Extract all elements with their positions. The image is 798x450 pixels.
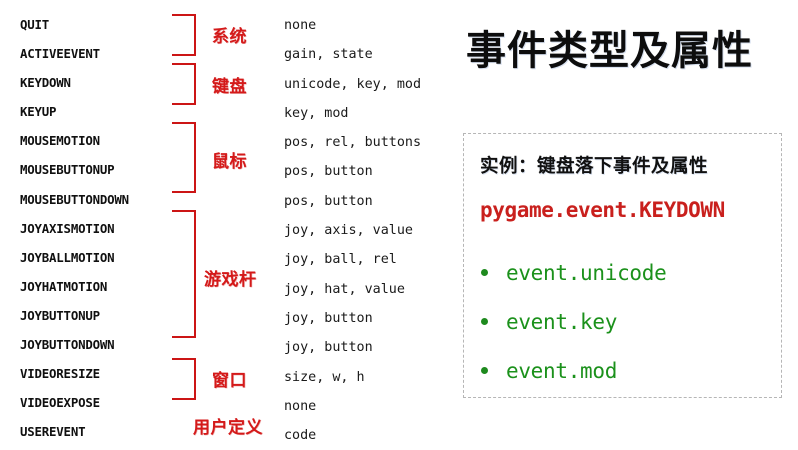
- event-name: QUIT: [20, 10, 190, 39]
- example-code: pygame.event.KEYDOWN: [480, 198, 725, 222]
- event-attributes: unicode, key, mod: [284, 70, 474, 99]
- event-name: VIDEORESIZE: [20, 359, 190, 388]
- event-name: MOUSEBUTTONDOWN: [20, 185, 190, 214]
- event-name: MOUSEBUTTONUP: [20, 155, 190, 184]
- bullet-icon: [481, 318, 488, 325]
- event-name: USEREVENT: [20, 417, 190, 446]
- event-name: JOYBUTTONUP: [20, 301, 190, 330]
- bullet-icon: [481, 269, 488, 276]
- list-item: event.key: [481, 297, 771, 346]
- event-name: JOYBUTTONDOWN: [20, 330, 190, 359]
- category-label-user-defined: 用户定义: [193, 413, 263, 438]
- event-name: VIDEOEXPOSE: [20, 388, 190, 417]
- page-title: 事件类型及属性: [466, 18, 753, 76]
- event-attributes: size, w, h: [284, 363, 474, 392]
- event-attributes: key, mod: [284, 99, 474, 128]
- category-bracket-mouse: [172, 122, 196, 193]
- category-bracket-keyboard: [172, 63, 196, 105]
- category-bracket-system: [172, 14, 196, 56]
- attribute-name: event.mod: [506, 359, 617, 383]
- attribute-name: event.unicode: [506, 261, 666, 285]
- attribute-name: event.key: [506, 310, 617, 334]
- event-attributes: pos, button: [284, 157, 474, 186]
- event-attributes: joy, button: [284, 333, 474, 362]
- event-name: ACTIVEEVENT: [20, 39, 190, 68]
- list-item: event.unicode: [481, 248, 771, 297]
- event-attributes: joy, axis, value: [284, 216, 474, 245]
- event-attribute-column: none gain, state unicode, key, mod key, …: [284, 11, 474, 450]
- category-label-window: 窗口: [212, 366, 247, 391]
- category-bracket-window: [172, 358, 196, 400]
- list-item: event.mod: [481, 346, 771, 395]
- event-attributes: joy, hat, value: [284, 275, 474, 304]
- example-attribute-list: event.unicode event.key event.mod: [481, 248, 771, 395]
- bullet-icon: [481, 367, 488, 374]
- event-attributes: none: [284, 11, 474, 40]
- event-attributes: joy, button: [284, 304, 474, 333]
- event-name-column: QUIT ACTIVEEVENT KEYDOWN KEYUP MOUSEMOTI…: [20, 10, 190, 446]
- category-label-system: 系统: [212, 22, 247, 47]
- event-attributes: joy, ball, rel: [284, 245, 474, 274]
- event-name: JOYAXISMOTION: [20, 214, 190, 243]
- category-bracket-joystick: [172, 210, 196, 338]
- event-attributes: code: [284, 421, 474, 450]
- example-heading: 实例：键盘落下事件及属性: [480, 152, 708, 178]
- event-name: KEYDOWN: [20, 68, 190, 97]
- event-name: JOYHATMOTION: [20, 272, 190, 301]
- event-name: JOYBALLMOTION: [20, 243, 190, 272]
- category-label-keyboard: 键盘: [212, 72, 247, 97]
- category-label-mouse: 鼠标: [212, 147, 247, 172]
- event-attributes: none: [284, 392, 474, 421]
- category-label-joystick: 游戏杆: [204, 265, 257, 290]
- slide-canvas: QUIT ACTIVEEVENT KEYDOWN KEYUP MOUSEMOTI…: [0, 0, 798, 447]
- event-attributes: pos, button: [284, 187, 474, 216]
- event-name: KEYUP: [20, 97, 190, 126]
- event-name: MOUSEMOTION: [20, 126, 190, 155]
- event-attributes: pos, rel, buttons: [284, 128, 474, 157]
- event-attributes: gain, state: [284, 40, 474, 69]
